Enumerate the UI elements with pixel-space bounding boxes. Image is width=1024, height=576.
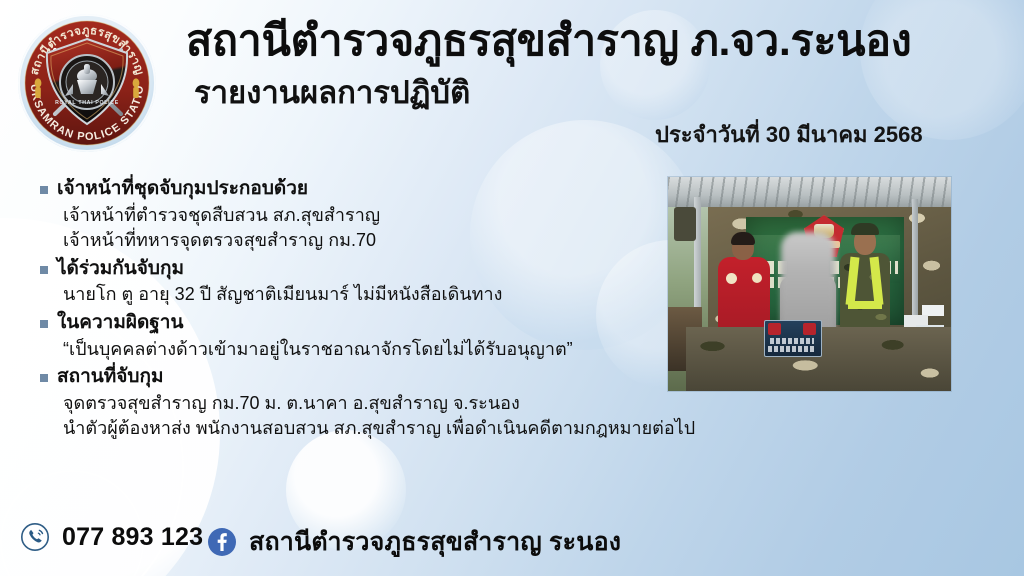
contact-phone[interactable]: 077 893 123 [20, 522, 203, 552]
photo-sign-text [770, 338, 814, 344]
page-subtitle: รายงานผลการปฏิบัติ [194, 76, 470, 110]
section-line: เจ้าหน้าที่ทหารจุดตรวจสุขสำราญ กม.70 [40, 228, 650, 254]
poster-canvas: สถานีตำรวจภูธรสุขสำราญ SUKSAMRAN POLICE … [0, 0, 1024, 576]
photo-officer-badge [752, 273, 762, 283]
photo-sign-emblem-icon [768, 323, 781, 335]
bullet-square-icon [40, 320, 48, 328]
report-section: ได้ร่วมกันจับกุม นายโก ตู อายุ 32 ปี สัญ… [40, 256, 650, 308]
report-details: เจ้าหน้าที่ชุดจับกุมประกอบด้วย เจ้าหน้าท… [40, 176, 650, 444]
page-title: สถานีตำรวจภูธรสุขสำราญ ภ.จว.ระนอง [186, 18, 911, 64]
report-section: เจ้าหน้าที่ชุดจับกุมประกอบด้วย เจ้าหน้าท… [40, 176, 650, 254]
police-emblem-logo: สถานีตำรวจภูธรสุขสำราญ SUKSAMRAN POLICE … [13, 10, 161, 153]
arrest-photo [668, 177, 951, 391]
phone-number: 077 893 123 [62, 523, 203, 552]
svg-text:ROYAL THAI POLICE: ROYAL THAI POLICE [55, 100, 119, 106]
header: สถานีตำรวจภูธรสุขสำราญ SUKSAMRAN POLICE … [0, 0, 1024, 160]
photo-officer-red-shirt [718, 257, 770, 333]
photo-post [912, 199, 918, 319]
footer: 077 893 123 สถานีตำรวจภูธรสุขสำราญ ระนอง [0, 514, 1024, 576]
photo-officer-badge [726, 273, 737, 284]
report-section: สถานที่จับกุม จุดตรวจสุขสำราญ กม.70 ม. ต… [40, 364, 650, 442]
photo-roof-ribs [668, 177, 951, 207]
section-heading: เจ้าหน้าที่ชุดจับกุมประกอบด้วย [57, 176, 308, 202]
phone-circle-icon [20, 522, 50, 552]
report-date: ประจำวันที่ 30 มีนาคม 2568 [655, 117, 923, 152]
arrest-photo-content [668, 177, 951, 391]
contact-facebook[interactable]: สถานีตำรวจภูธรสุขสำราญ ระนอง [207, 522, 621, 562]
section-heading: ได้ร่วมกันจับกุม [57, 256, 184, 282]
photo-sign-text [768, 346, 816, 352]
photo-reflective-vest [848, 301, 882, 309]
section-line: นายโก ตู อายุ 32 ปี สัญชาติเมียนมาร์ ไม่… [40, 282, 650, 308]
photo-hanging-gear [674, 207, 696, 241]
facebook-page-name: สถานีตำรวจภูธรสุขสำราญ ระนอง [249, 522, 621, 562]
bullet-square-icon [40, 374, 48, 382]
photo-soldier-cap [851, 223, 879, 235]
section-line: นำตัวผู้ต้องหาส่ง พนักงานสอบสวน สภ.สุขสำ… [40, 416, 650, 442]
section-line: เจ้าหน้าที่ตำรวจชุดสืบสวน สภ.สุขสำราญ [40, 203, 650, 229]
section-line: “เป็นบุคคลต่างด้าวเข้ามาอยู่ในราชอาณาจัก… [40, 337, 650, 363]
section-line: จุดตรวจสุขสำราญ กม.70 ม. ต.นาคา อ.สุขสำร… [40, 391, 650, 417]
report-section: ในความผิดฐาน “เป็นบุคคลต่างด้าวเข้ามาอยู… [40, 310, 650, 362]
section-heading: สถานที่จับกุม [57, 364, 164, 390]
section-heading: ในความผิดฐาน [57, 310, 183, 336]
photo-officer-hair [731, 232, 755, 245]
photo-sign-emblem-icon [803, 323, 816, 335]
bullet-square-icon [40, 266, 48, 274]
facebook-icon [207, 527, 237, 557]
bullet-square-icon [40, 186, 48, 194]
